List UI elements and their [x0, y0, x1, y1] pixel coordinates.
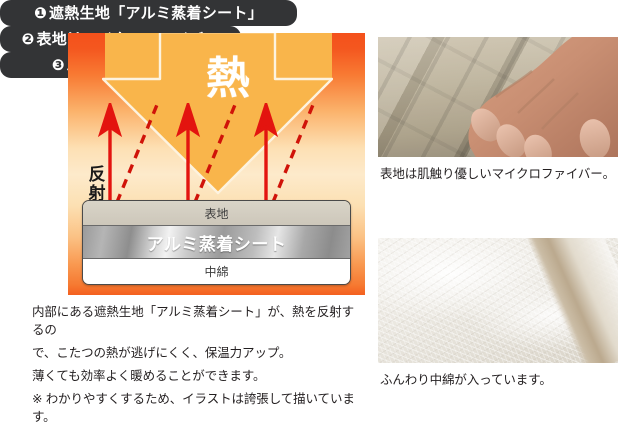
microfiber-photo [378, 37, 618, 157]
heat-kanji-label: 熱 [188, 57, 268, 101]
layer-aluminum-sheet: アルミ蒸着シート [83, 226, 350, 259]
body-line-1: 内部にある遮熱生地「アルミ蒸着シート」が、熱を反射するの [32, 303, 362, 339]
section-1-body-copy: 内部にある遮熱生地「アルミ蒸着シート」が、熱を反射するの で、こたつの熱が逃げに… [32, 303, 362, 431]
section-2-number: ❷ [21, 32, 34, 47]
body-line-2: で、こたつの熱が逃げにくく、保温力アップ。 [32, 344, 362, 362]
section-1-title: 遮熱生地「アルミ蒸着シート」 [49, 6, 263, 21]
section-3-number: ❸ [52, 58, 65, 73]
hand-icon [462, 37, 618, 157]
fabric-layer-stack: 表地 アルミ蒸着シート 中綿 [82, 200, 351, 285]
batting-photo [378, 238, 618, 363]
section-2-caption: 表地は肌触り優しいマイクロファイバー。 [380, 166, 615, 182]
illustration-background: 熱 反射 表地 [68, 33, 365, 295]
layer-omote: 表地 [83, 201, 350, 226]
body-line-3: 薄くても効率よく暖めることができます。 [32, 367, 362, 385]
heat-shield-illustration: 熱 反射 表地 [68, 33, 365, 295]
section-3-caption: ふんわり中綿が入っています。 [380, 372, 552, 388]
section-1-number: ❶ [34, 6, 47, 21]
disclaimer-note: ※ わかりやすくするため、イラストは誇張して描いています。 [32, 390, 362, 426]
layer-nakawata: 中綿 [83, 259, 350, 284]
section-1-header: ❶ 遮熱生地「アルミ蒸着シート」 [0, 0, 297, 26]
